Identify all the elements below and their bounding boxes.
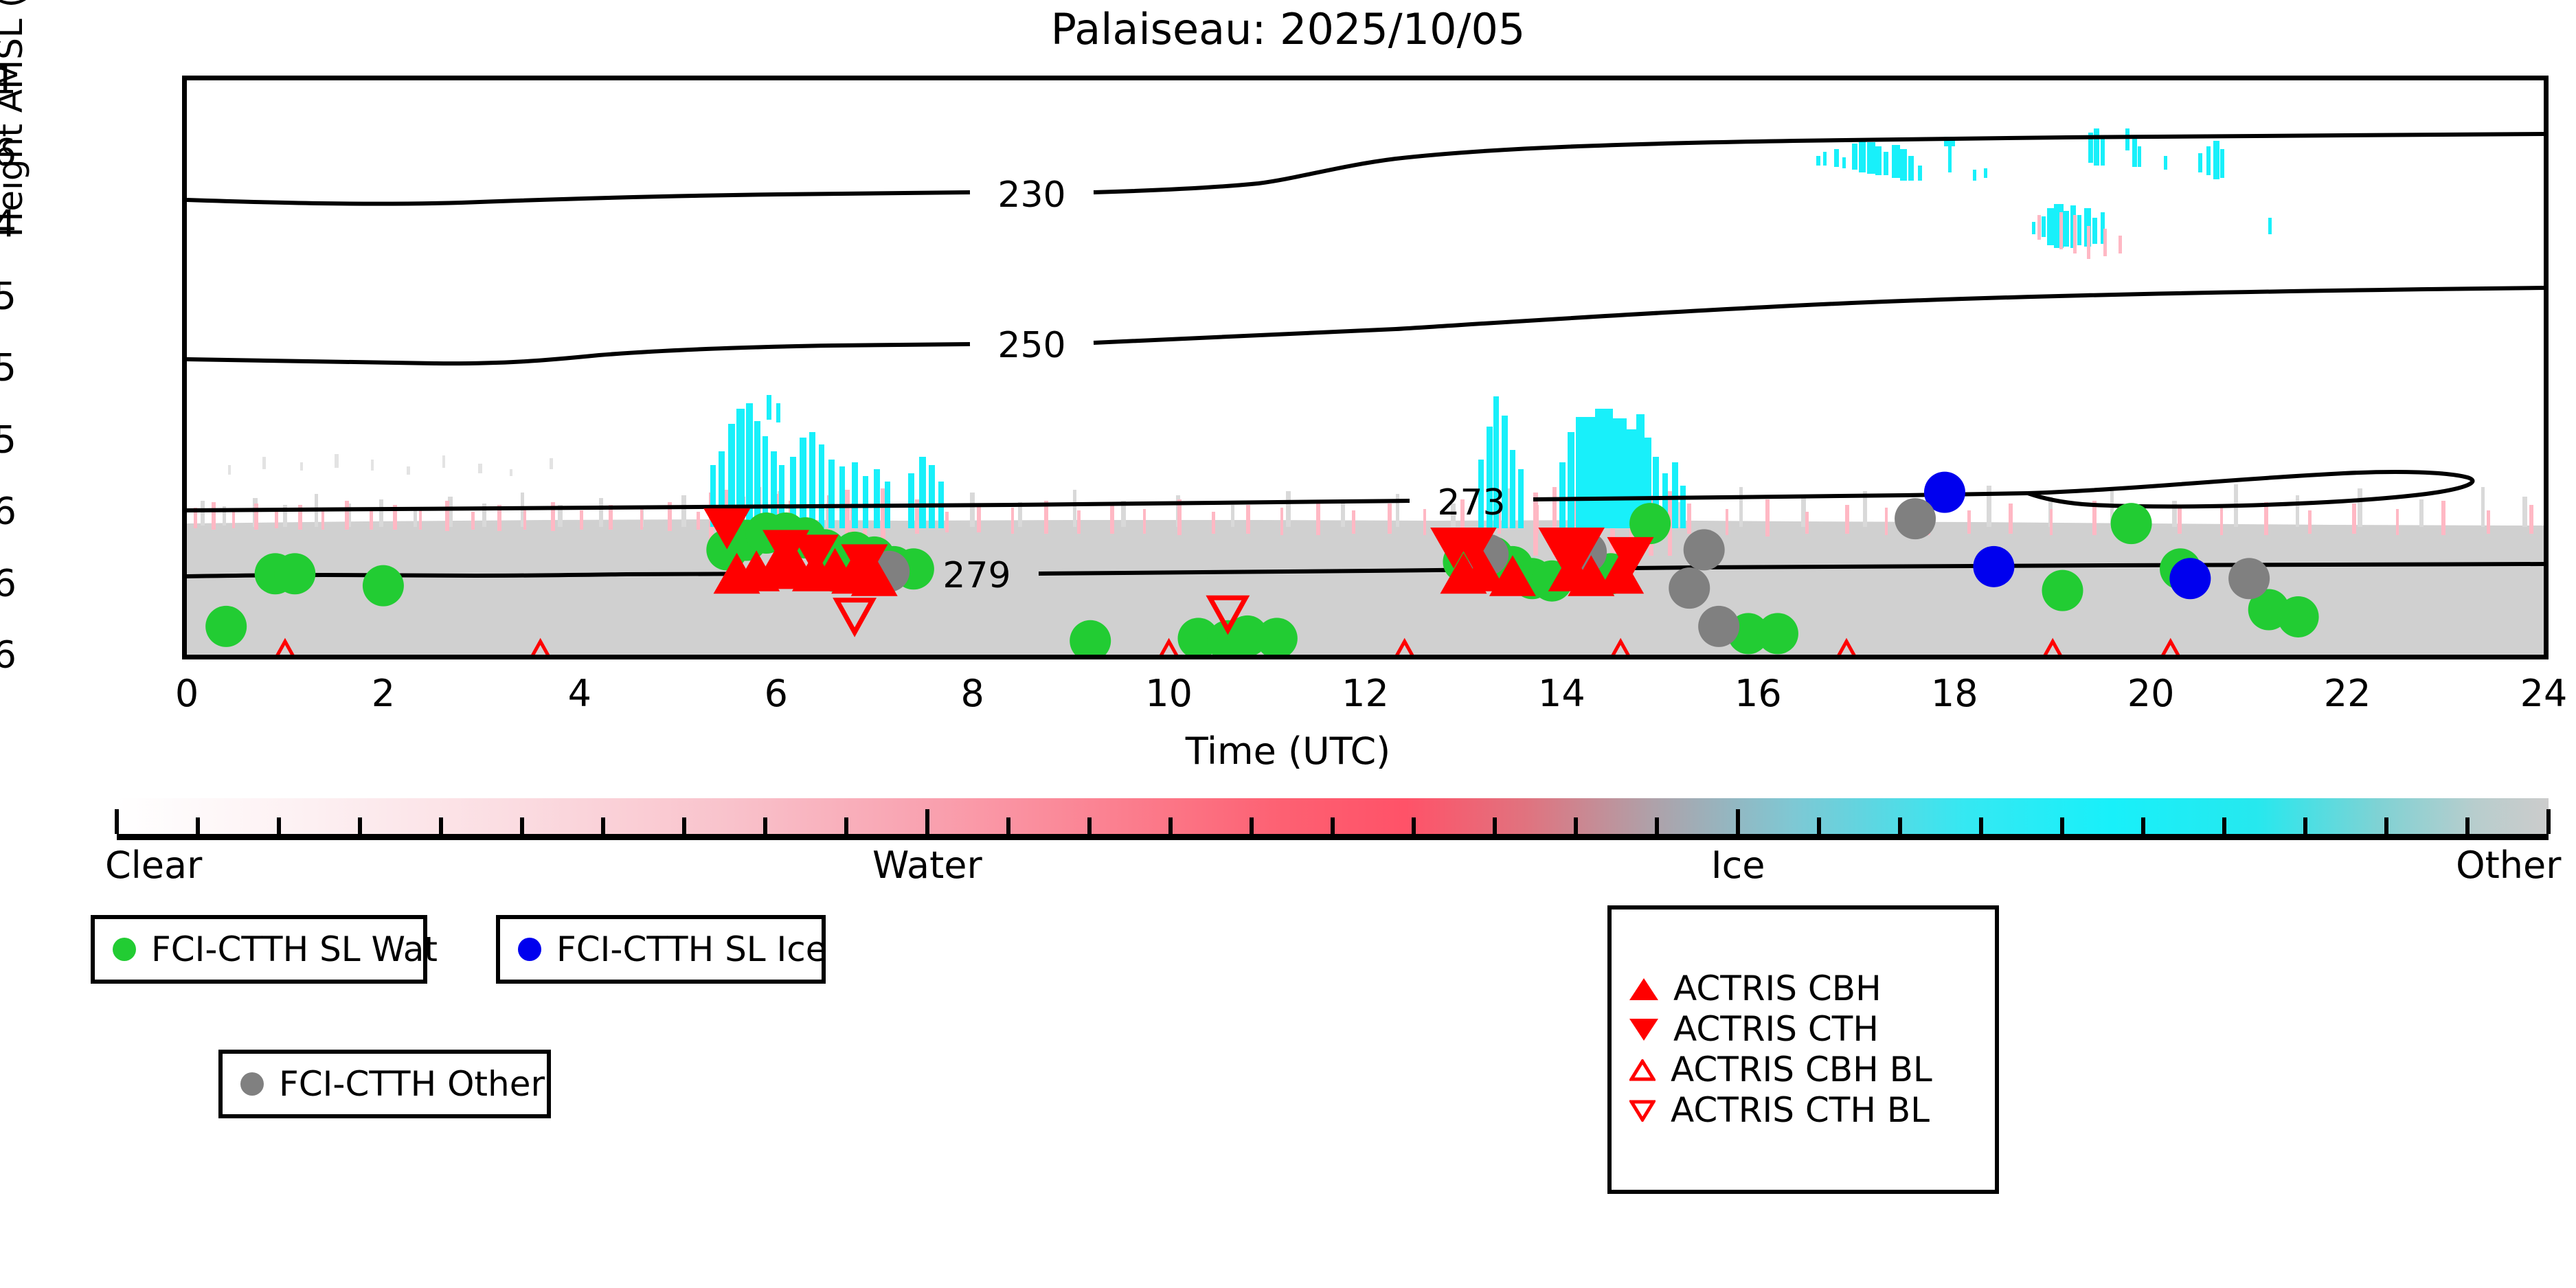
triangle-up-open-icon [1629, 1059, 1656, 1081]
colorbar-tick [601, 817, 605, 834]
colorbar-tick [763, 817, 767, 834]
colorbar-tick [2303, 817, 2307, 834]
data-marker [1973, 546, 2014, 587]
contour-250-left [187, 344, 970, 363]
page-title: Palaiseau: 2025/10/05 [0, 4, 2576, 54]
y-tick-label: 1.66 [0, 561, 16, 605]
colorbar-tick [844, 817, 848, 834]
y-tick-label: 7.65 [0, 274, 16, 317]
legend-row-actris-cbh[interactable]: ACTRIS CBH [1612, 969, 1995, 1009]
x-tick-label: 10 [1145, 672, 1193, 715]
data-marker [205, 606, 247, 647]
legend-row-actris-cth[interactable]: ACTRIS CTH [1612, 1009, 1995, 1050]
legend-label-sl-ice: FCI-CTTH SL Ice [556, 929, 827, 970]
x-tick-label: 18 [1931, 672, 1978, 715]
x-tick-label: 2 [372, 672, 395, 715]
legend-label-actris-cbh-bl: ACTRIS CBH BL [1671, 1050, 1932, 1090]
cloudmask-ice-midpatch [2032, 204, 2272, 248]
x-tick-label: 12 [1342, 672, 1389, 715]
triangle-down-filled-icon [1629, 1019, 1658, 1041]
data-marker [1895, 498, 1936, 539]
colorbar-tick [1655, 817, 1659, 834]
y-tick-label: 9.14 [0, 203, 16, 246]
green-circle-icon [113, 938, 136, 961]
legend-label-actris-cth: ACTRIS CTH [1673, 1009, 1879, 1050]
colorbar-tick [196, 817, 200, 834]
legend-fci-ctth-sl-ice[interactable]: FCI-CTTH SL Ice [496, 915, 826, 984]
blue-circle-icon [518, 938, 541, 961]
y-tick-label: 10.6 [0, 131, 16, 174]
legend-row-actris-cth-bl[interactable]: ACTRIS CTH BL [1612, 1090, 1995, 1131]
contour-label-250: 250 [997, 325, 1065, 366]
x-tick-label: 6 [765, 672, 788, 715]
legend-fci-ctth-sl-wat[interactable]: FCI-CTTH SL Wat [91, 915, 427, 984]
data-marker [2278, 596, 2319, 637]
colorbar-tick [115, 809, 119, 834]
contour-label-273: 273 [1437, 482, 1505, 523]
colorbar-tick [277, 817, 281, 834]
colorbar-label: Other [2456, 844, 2561, 887]
legend-row-actris-cbh-bl[interactable]: ACTRIS CBH BL [1612, 1050, 1995, 1090]
data-marker [1669, 567, 1710, 609]
contour-230-left [187, 192, 970, 204]
colorbar-tick [2222, 817, 2226, 834]
x-tick-label: 16 [1735, 672, 1782, 715]
data-marker [1757, 613, 1798, 654]
colorbar-tick [925, 809, 929, 834]
colorbar-tick [520, 817, 524, 834]
data-marker [2228, 558, 2270, 599]
y-tick-label: 6.15 [0, 346, 16, 389]
legend-actris[interactable]: ACTRIS CBH ACTRIS CTH ACTRIS CBH BL ACTR… [1607, 905, 1999, 1194]
legend-label-actris-cth-bl: ACTRIS CTH BL [1671, 1090, 1930, 1131]
colorbar-tick [1898, 817, 1902, 834]
contour-label-279: 279 [942, 555, 1010, 596]
colorbar-label: Clear [105, 844, 202, 887]
x-tick-label: 24 [2520, 672, 2568, 715]
triangle-down-open-icon [1629, 1100, 1656, 1122]
data-marker [363, 565, 404, 607]
y-tick-label: 3.16 [0, 490, 16, 533]
colorbar-tick [358, 817, 362, 834]
legend-label-actris-cbh: ACTRIS CBH [1673, 969, 1882, 1009]
plot-canvas: 230 250 273 279 [187, 80, 2544, 655]
y-tick-label: 12.1 [0, 59, 16, 102]
contour-label-230: 230 [997, 174, 1065, 216]
colorbar-label: Water [872, 844, 982, 887]
colorbar-label: Ice [1711, 844, 1765, 887]
legend-label-sl-wat: FCI-CTTH SL Wat [151, 929, 438, 970]
legend-fci-ctth-other[interactable]: FCI-CTTH Other [218, 1050, 551, 1118]
contour-250-right [1094, 288, 2544, 343]
y-tick-label: 4.65 [0, 418, 16, 461]
data-marker [1698, 606, 1739, 647]
colorbar-tick [1736, 809, 1740, 834]
data-marker [2111, 503, 2152, 544]
x-tick-label: 22 [2324, 672, 2371, 715]
colorbar-tick [1250, 817, 1254, 834]
contour-273-left [187, 501, 1410, 510]
colorbar-tick [1979, 817, 1983, 834]
colorbar-tick [439, 817, 443, 834]
plot-area[interactable]: 230 250 273 279 [182, 76, 2549, 659]
colorbar-tick [2384, 817, 2388, 834]
colorbar-tick [1168, 817, 1173, 834]
triangle-up-filled-icon [1629, 978, 1658, 1000]
y-tick-label: 0.16 [0, 633, 16, 677]
colorbar-tick [2060, 817, 2064, 834]
colorbar-tick [1574, 817, 1578, 834]
colorbar-tick [2465, 817, 2470, 834]
colorbar-tick [1817, 817, 1821, 834]
colorbar-tick [1331, 817, 1335, 834]
x-tick-label: 8 [960, 672, 984, 715]
data-marker [274, 553, 315, 594]
data-marker [1684, 529, 1725, 570]
colorbar-tick [682, 817, 686, 834]
colorbar-tick [2141, 817, 2145, 834]
x-axis-label: Time (UTC) [0, 730, 2576, 773]
data-marker [2169, 558, 2211, 599]
legend-label-other: FCI-CTTH Other [279, 1064, 545, 1105]
gray-circle-icon [240, 1072, 264, 1096]
colorbar-tick [1412, 817, 1416, 834]
x-tick-label: 4 [568, 672, 591, 715]
colorbar-tick [1006, 817, 1010, 834]
x-tick-label: 0 [175, 672, 199, 715]
x-tick-label: 20 [2127, 672, 2175, 715]
data-marker [2042, 570, 2083, 611]
colorbar-axis-line [117, 834, 2549, 840]
colorbar-tick [1493, 817, 1497, 834]
colorbar-tick [2546, 809, 2551, 834]
colorbar-tick [1087, 817, 1092, 834]
cloudmask-highwisps [228, 454, 553, 476]
x-tick-label: 14 [1538, 672, 1585, 715]
